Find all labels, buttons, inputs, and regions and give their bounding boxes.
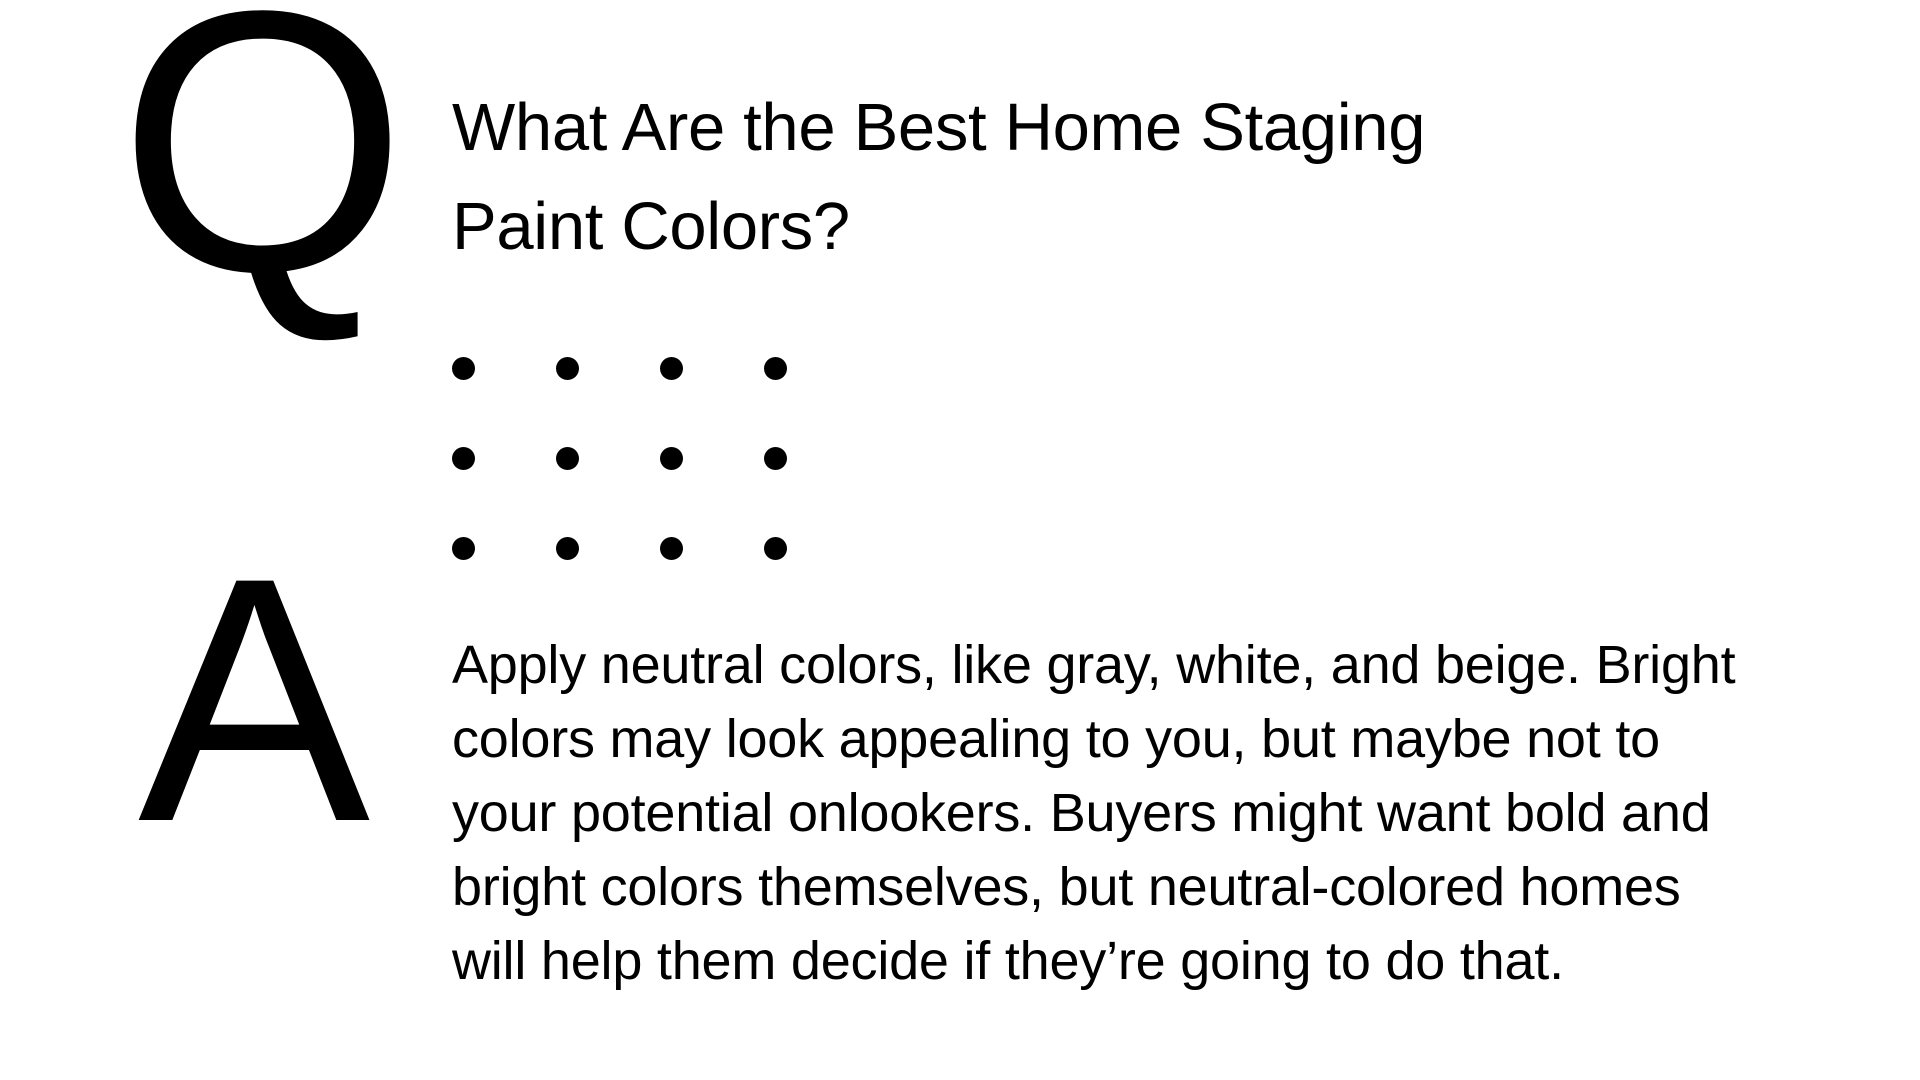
grid-dot	[660, 447, 683, 470]
answer-body-line-1: Apply neutral colors, like gray, white, …	[452, 628, 1872, 702]
grid-dot	[452, 357, 475, 380]
letter-a-glyph: A	[138, 555, 388, 885]
question-title-line-1: What Are the Best Home Staging	[452, 78, 1572, 177]
dot-grid-divider	[452, 357, 868, 627]
grid-dot	[556, 447, 579, 470]
faq-card: Q What Are the Best Home Staging Paint C…	[0, 0, 1920, 1080]
grid-dot	[660, 357, 683, 380]
grid-dot	[452, 537, 475, 560]
letter-q-glyph: Q	[118, 0, 358, 306]
answer-body-line-4: bright colors themselves, but neutral-co…	[452, 850, 1872, 924]
answer-body-line-5: will help them decide if they’re going t…	[452, 924, 1872, 998]
grid-dot	[764, 357, 787, 380]
grid-dot	[556, 537, 579, 560]
answer-body-line-3: your potential onlookers. Buyers might w…	[452, 776, 1872, 850]
grid-dot	[660, 537, 683, 560]
grid-dot	[556, 357, 579, 380]
grid-dot	[764, 447, 787, 470]
answer-body-line-2: colors may look appealing to you, but ma…	[452, 702, 1872, 776]
answer-body: Apply neutral colors, like gray, white, …	[452, 628, 1872, 998]
grid-dot	[452, 447, 475, 470]
question-title-line-2: Paint Colors?	[452, 177, 1572, 276]
grid-dot	[764, 537, 787, 560]
question-title: What Are the Best Home Staging Paint Col…	[452, 78, 1572, 276]
